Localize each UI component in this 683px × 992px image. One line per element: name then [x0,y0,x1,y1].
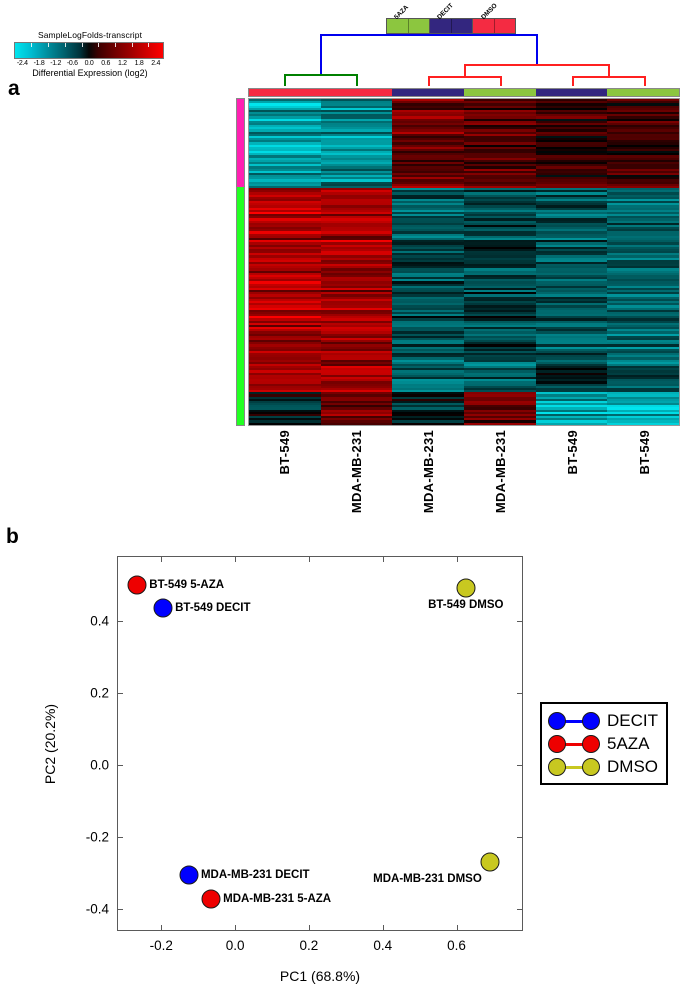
pca-point[interactable] [202,890,221,909]
heatmap-cell [321,423,393,425]
colorbar-gradient [14,42,164,59]
colorbar-tick: 2.4 [147,60,164,67]
pca-legend-marker [548,757,600,777]
panel-label-b: b [6,526,19,547]
pca-point-label: BT-549 DMSO [428,599,503,611]
y-axis-tick-label: 0.0 [65,758,109,773]
heatmap-sample-label: BT-549 [637,430,652,474]
colorbar-subtitle: Differential Expression (log2) [14,68,166,78]
heatmap-sample-label: MDA-MB-231 [349,430,364,513]
x-axis-tick [309,925,310,931]
x-axis-tick-top [457,556,458,562]
dendrogram-link [608,64,610,76]
heatmap-cell [464,423,536,425]
pca-legend-marker [548,711,600,731]
colorbar-tick: 0.6 [97,60,114,67]
heatmap-sample-label: BT-549 [277,430,292,474]
heatmap-sample-label: MDA-MB-231 [421,430,436,513]
pca-point[interactable] [154,598,173,617]
dendrogram-link [572,76,644,78]
dendrogram-link [464,64,608,66]
y-axis-tick-right [517,909,523,910]
y-axis-tick [117,765,123,766]
x-axis-tick-label: 0.6 [447,938,466,953]
x-axis-tick-label: 0.4 [373,938,392,953]
dendrogram-link [320,34,322,74]
x-axis-tick [383,925,384,931]
pca-legend-row-decit[interactable]: DECIT [548,709,658,732]
heatmap-cell [536,423,608,425]
column-annotation-cell [249,89,321,96]
pca-point[interactable] [456,579,475,598]
y-axis-tick [117,837,123,838]
dendrogram-link [428,76,500,78]
x-axis-tick-top [309,556,310,562]
column-annotation-cell [321,89,393,96]
panel-a-heatmap: a SampleLogFolds-transcript -2.4 -1.8 -1… [0,0,683,520]
dendrogram-link [500,76,502,86]
y-axis-tick-right [517,765,523,766]
pca-legend-row-5aza[interactable]: 5AZA [548,732,658,755]
dendrogram-link [536,34,538,64]
pca-legend: DECIT5AZADMSO [540,702,668,785]
y-axis-tick [117,909,123,910]
y-axis-title: PC2 (20.2%) [42,664,58,824]
colorbar-tick: -2.4 [14,60,31,67]
column-annotation-cell [464,89,536,96]
y-axis-tick-label: -0.4 [65,902,109,917]
colorbar-tick-labels: -2.4 -1.8 -1.2 -0.6 0.0 0.6 1.2 1.8 2.4 [14,60,164,67]
pca-legend-label: 5AZA [607,734,650,754]
heatmap-sample-label: BT-549 [565,430,580,474]
x-axis-tick [235,925,236,931]
dendrogram-link [284,74,356,76]
row-annotation-cell [237,99,244,187]
column-annotation-strip [248,88,680,97]
y-axis-tick-right [517,693,523,694]
x-axis-tick [161,925,162,931]
heatmap-sample-labels: BT-549MDA-MB-231MDA-MB-231MDA-MB-231BT-5… [248,430,680,518]
y-axis-tick-label: 0.4 [65,613,109,628]
y-axis-tick-label: 0.2 [65,686,109,701]
column-annotation-cell [392,89,464,96]
pca-point[interactable] [128,575,147,594]
x-axis-tick-label: 0.0 [226,938,245,953]
row-annotation-cell [237,187,244,425]
x-axis-tick-top [383,556,384,562]
y-axis-tick-label: -0.2 [65,830,109,845]
y-axis-tick [117,693,123,694]
heatmap-row [249,423,679,425]
pca-point-label: MDA-MB-231 DECIT [201,869,310,881]
pca-legend-label: DECIT [607,711,658,731]
heatmap-colorbar: SampleLogFolds-transcript -2.4 -1.8 -1.2… [14,30,166,78]
x-axis-tick-top [235,556,236,562]
heatmap-cell [607,423,679,425]
heatmap-sample-label: MDA-MB-231 [493,430,508,513]
panel-b-pca-scatter: b -0.20.00.20.40.60.40.20.0-0.2-0.4BT-54… [0,520,683,992]
heatmap-cell [249,423,321,425]
x-axis-tick-label: 0.2 [300,938,319,953]
x-axis-tick [457,925,458,931]
column-dendrogram [248,30,680,88]
x-axis-title: PC1 (68.8%) [117,968,523,984]
colorbar-title: SampleLogFolds-transcript [14,30,166,40]
pca-legend-row-dmso[interactable]: DMSO [548,755,658,778]
dendrogram-link [356,74,358,86]
column-annotation-cell [536,89,608,96]
colorbar-tick: 1.8 [131,60,148,67]
y-axis-tick-right [517,837,523,838]
pca-point[interactable] [179,866,198,885]
colorbar-tick: 1.2 [114,60,131,67]
pca-point-label: BT-549 5-AZA [149,579,224,591]
colorbar-tick: -1.2 [47,60,64,67]
dendrogram-link [320,34,536,36]
y-axis-tick [117,621,123,622]
dendrogram-link [644,76,646,86]
pca-point-label: BT-549 DECIT [175,602,250,614]
x-axis-tick-label: -0.2 [150,938,173,953]
colorbar-tick: 0.0 [81,60,98,67]
x-axis-tick-top [161,556,162,562]
panel-label-a: a [8,78,20,99]
column-annotation-cell [607,89,679,96]
pca-legend-marker [548,734,600,754]
pca-point[interactable] [480,852,499,871]
pca-legend-label: DMSO [607,757,658,777]
pca-point-label: MDA-MB-231 5-AZA [223,893,331,905]
colorbar-tick: -0.6 [64,60,81,67]
pca-point-label: MDA-MB-231 DMSO [373,873,482,885]
heatmap-cell [392,423,464,425]
colorbar-tick: -1.8 [31,60,48,67]
row-annotation-strip [236,98,245,426]
heatmap-matrix [248,98,680,426]
y-axis-tick-right [517,621,523,622]
